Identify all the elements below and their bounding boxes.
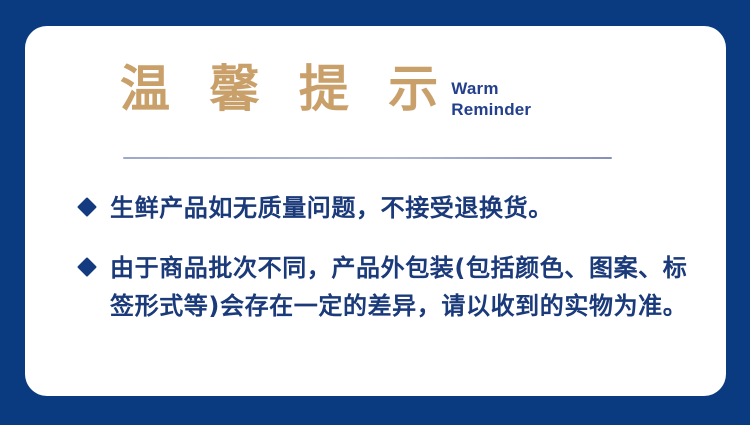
- subtitle-line-1: Warm: [451, 78, 531, 99]
- warm-reminder-banner: 温 馨 提 示 Warm Reminder 生鲜产品如无质量问题，不接受退换货。…: [0, 0, 750, 425]
- header-divider: [123, 157, 612, 159]
- notice-text: 生鲜产品如无质量问题，不接受退换货。: [110, 189, 695, 227]
- diamond-bullet-icon: [77, 257, 97, 277]
- subtitle-line-2: Reminder: [451, 99, 531, 120]
- notice-text: 由于商品批次不同，产品外包装(包括颜色、图案、标签形式等)会存在一定的差异，请以…: [110, 249, 695, 325]
- page-title: 温 馨 提 示: [120, 60, 449, 118]
- page-subtitle: Warm Reminder: [451, 60, 531, 120]
- notice-card: 温 馨 提 示 Warm Reminder 生鲜产品如无质量问题，不接受退换货。…: [25, 26, 726, 396]
- list-item: 由于商品批次不同，产品外包装(包括颜色、图案、标签形式等)会存在一定的差异，请以…: [80, 249, 695, 325]
- list-item: 生鲜产品如无质量问题，不接受退换货。: [80, 189, 695, 227]
- diamond-bullet-icon: [77, 197, 97, 217]
- notice-list: 生鲜产品如无质量问题，不接受退换货。 由于商品批次不同，产品外包装(包括颜色、图…: [80, 189, 695, 325]
- notice-header: 温 馨 提 示 Warm Reminder: [120, 60, 531, 120]
